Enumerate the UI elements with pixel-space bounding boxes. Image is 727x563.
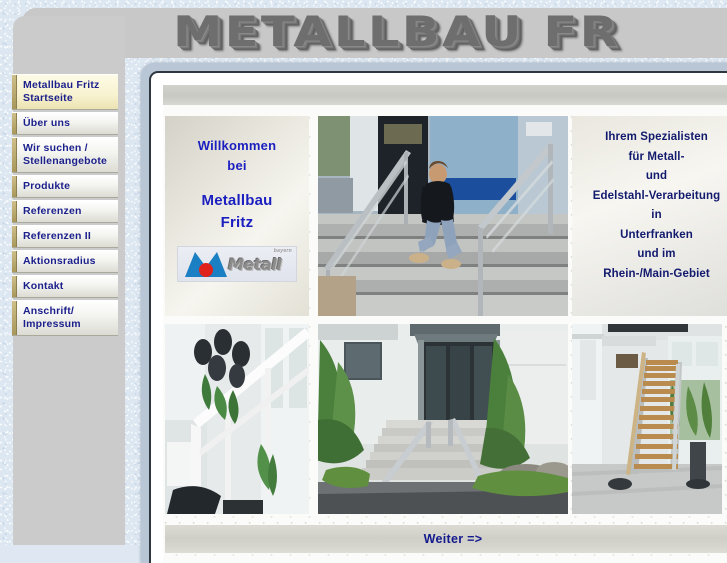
slogan-line: für Metall- — [572, 148, 727, 168]
sidebar-item-label-2: Impressum — [23, 318, 115, 331]
logo-m-mountain-icon — [184, 250, 228, 278]
sidebar-item-referenzen[interactable]: Referenzen — [12, 200, 118, 223]
site-title: METALLBAU FR — [173, 9, 620, 55]
photo-indoor-railing-image — [165, 324, 309, 514]
slogan-line: und — [572, 167, 727, 187]
slogan-line: in — [572, 206, 727, 226]
sidebar-item-label-2: Startseite — [23, 92, 115, 105]
sidebar-item-label: Kontakt — [23, 280, 115, 293]
content-frame: Willkommen bei Metallbau Fritz — [141, 63, 727, 563]
logo-region-label: bayern — [274, 248, 292, 254]
welcome-greeting: Willkommen bei — [165, 136, 309, 176]
content-frame-inner: Willkommen bei Metallbau Fritz — [151, 73, 727, 563]
slogan-panel: Ihrem Spezialistenfür Metall-undEdelstah… — [572, 116, 727, 316]
sidebar-item-label: Anschrift/ — [23, 305, 115, 318]
hero-photo — [318, 116, 568, 316]
hero-photo-image — [318, 116, 568, 316]
slogan-line: Edelstahl-Verarbeitung — [572, 187, 727, 207]
content-frame-border: Willkommen bei Metallbau Fritz — [149, 71, 727, 563]
sidebar-item-label: Über uns — [23, 117, 115, 130]
welcome-company-name: Metallbau Fritz — [165, 190, 309, 234]
sidebar-item-label-2: Stellenangebote — [23, 155, 115, 168]
sidebar-item-startseite[interactable]: Metallbau FritzStartseite — [12, 74, 118, 110]
photo-entrance-steps — [318, 324, 568, 514]
photo-interior-staircase-image — [572, 324, 722, 514]
sidebar-item-impressum[interactable]: Anschrift/Impressum — [12, 300, 118, 336]
sidebar-item-aktionsradius[interactable]: Aktionsradius — [12, 250, 118, 273]
sidebar-item-referenzen-2[interactable]: Referenzen II — [12, 225, 118, 248]
content-top-spacer — [163, 85, 727, 105]
page-content: Willkommen bei Metallbau Fritz — [163, 85, 727, 563]
sidebar-item-label: Referenzen II — [23, 230, 115, 243]
sidebar-item-label: Metallbau Fritz — [23, 79, 115, 92]
slogan-line: Rhein-/Main-Gebiet — [572, 265, 727, 285]
photo-indoor-railing — [165, 324, 309, 514]
sidebar-navigation: Metallbau FritzStartseiteÜber unsWir suc… — [12, 74, 118, 338]
sidebar-item-label: Aktionsradius — [23, 255, 115, 268]
slogan-line: Ihrem Spezialisten — [572, 128, 727, 148]
welcome-line-3: Metallbau — [165, 190, 309, 212]
welcome-line-1: Willkommen — [165, 136, 309, 156]
sidebar-item-label: Referenzen — [23, 205, 115, 218]
weiter-label: Weiter => — [424, 532, 483, 546]
sidebar-item-stellen[interactable]: Wir suchen /Stellenangebote — [12, 137, 118, 173]
metall-bayern-logo: Metall bayern — [177, 246, 297, 282]
photo-entrance-steps-image — [318, 324, 568, 514]
welcome-line-2: bei — [165, 156, 309, 176]
sidebar-item-produkte[interactable]: Produkte — [12, 175, 118, 198]
weiter-link-bar[interactable]: Weiter => — [165, 525, 727, 553]
welcome-line-4: Fritz — [165, 212, 309, 234]
sidebar-item-label: Wir suchen / — [23, 142, 115, 155]
slogan-line: und im — [572, 245, 727, 265]
slogan-line: Unterfranken — [572, 226, 727, 246]
logo-wordmark: Metall — [228, 255, 281, 274]
welcome-panel: Willkommen bei Metallbau Fritz — [165, 116, 309, 316]
sidebar-item-kontakt[interactable]: Kontakt — [12, 275, 118, 298]
sidebar-item-label: Produkte — [23, 180, 115, 193]
photo-interior-staircase — [572, 324, 722, 514]
sidebar-item-ueber-uns[interactable]: Über uns — [12, 112, 118, 135]
